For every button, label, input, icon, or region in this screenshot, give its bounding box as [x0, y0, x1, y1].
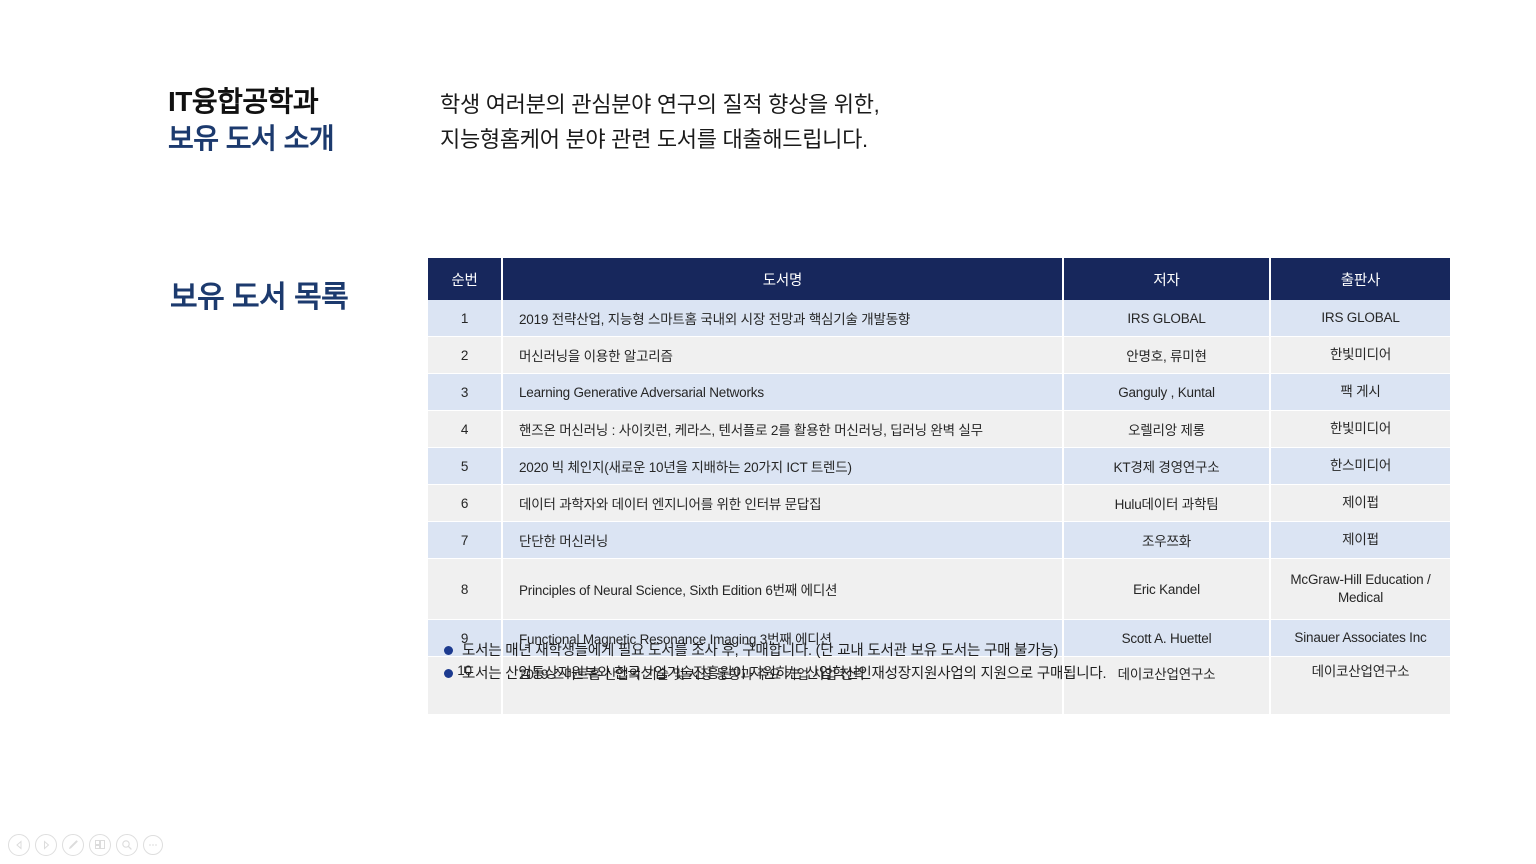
- bullet-icon: [444, 669, 453, 678]
- cell-publisher: McGraw-Hill Education / Medical: [1270, 559, 1450, 620]
- page-subtitle-line2: 지능형홈케어 분야 관련 도서를 대출해드립니다.: [440, 123, 1140, 158]
- page-title: IT융합공학과 보유 도서 소개: [168, 84, 418, 158]
- cell-author: 조우쯔화: [1063, 522, 1270, 559]
- magnifier-icon: [121, 839, 133, 851]
- cell-author: KT경제 경영연구소: [1063, 448, 1270, 485]
- section-heading: 보유 도서 목록: [170, 272, 348, 316]
- column-header-publisher: 출판사: [1270, 258, 1450, 300]
- more-options-button[interactable]: [143, 835, 163, 855]
- table-header-row: 순번 도서명 저자 출판사: [428, 258, 1450, 300]
- cell-publisher: 제이펍: [1270, 485, 1450, 522]
- cell-publisher: 한스미디어: [1270, 448, 1450, 485]
- cell-publisher: 한빛미디어: [1270, 337, 1450, 374]
- cell-title: Principles of Neural Science, Sixth Edit…: [502, 559, 1063, 620]
- cell-title: Learning Generative Adversarial Networks: [502, 374, 1063, 411]
- cell-title: 2020 빅 체인지(새로운 10년을 지배하는 20가지 ICT 트렌드): [502, 448, 1063, 485]
- zoom-button[interactable]: [116, 834, 138, 856]
- next-slide-button[interactable]: [35, 834, 57, 856]
- cell-title: 머신러닝을 이용한 알고리즘: [502, 337, 1063, 374]
- ellipsis-icon: [147, 839, 159, 851]
- cell-no: 8: [428, 559, 502, 620]
- viewer-toolbar: [8, 834, 163, 856]
- cell-author: 안명호, 류미현: [1063, 337, 1270, 374]
- cell-publisher: 팩 게시: [1270, 374, 1450, 411]
- cell-publisher: 한빛미디어: [1270, 411, 1450, 448]
- cell-no: 4: [428, 411, 502, 448]
- cell-no: 2: [428, 337, 502, 374]
- cell-no: 5: [428, 448, 502, 485]
- annotate-button[interactable]: [62, 834, 84, 856]
- footnote-text: 도서는 산업통상자원부와 한국산업기술진흥원이 지원하는 산업혁신인재성장지원사…: [462, 663, 1106, 686]
- page-title-line1: IT융합공학과: [168, 84, 418, 121]
- cell-no: 7: [428, 522, 502, 559]
- cell-no: 3: [428, 374, 502, 411]
- column-header-author: 저자: [1063, 258, 1270, 300]
- table-row: 2 머신러닝을 이용한 알고리즘 안명호, 류미현 한빛미디어: [428, 337, 1450, 374]
- footnote-text: 도서는 매년 재학생들에게 필요 도서를 조사 후, 구매합니다. (단 교내 …: [462, 640, 1058, 663]
- page-subtitle: 학생 여러분의 관심분야 연구의 질적 향상을 위한, 지능형홈케어 분야 관련…: [440, 88, 1140, 158]
- cell-author: Ganguly , Kuntal: [1063, 374, 1270, 411]
- bullet-icon: [444, 646, 453, 655]
- table-row: 4 핸즈온 머신러닝 : 사이킷런, 케라스, 텐서플로 2를 활용한 머신러닝…: [428, 411, 1450, 448]
- column-header-no: 순번: [428, 258, 502, 300]
- cell-author: 오렐리앙 제롱: [1063, 411, 1270, 448]
- table-row: 7 단단한 머신러닝 조우쯔화 제이펍: [428, 522, 1450, 559]
- triangle-left-icon: [14, 840, 24, 850]
- cell-title: 핸즈온 머신러닝 : 사이킷런, 케라스, 텐서플로 2를 활용한 머신러닝, …: [502, 411, 1063, 448]
- grid-icon: [94, 839, 106, 851]
- table-row: 6 데이터 과학자와 데이터 엔지니어를 위한 인터뷰 문답집 Hulu데이터 …: [428, 485, 1450, 522]
- footnote-item: 도서는 산업통상자원부와 한국산업기술진흥원이 지원하는 산업혁신인재성장지원사…: [444, 663, 1444, 686]
- slide-canvas: IT융합공학과 보유 도서 소개 학생 여러분의 관심분야 연구의 질적 향상을…: [0, 0, 1536, 864]
- table-row: 3 Learning Generative Adversarial Networ…: [428, 374, 1450, 411]
- table-row: 1 2019 전략산업, 지능형 스마트홈 국내외 시장 전망과 핵심기술 개발…: [428, 300, 1450, 337]
- triangle-right-icon: [41, 840, 51, 850]
- slide-overview-button[interactable]: [89, 834, 111, 856]
- cell-publisher: IRS GLOBAL: [1270, 300, 1450, 337]
- footnotes: 도서는 매년 재학생들에게 필요 도서를 조사 후, 구매합니다. (단 교내 …: [444, 640, 1444, 687]
- pen-icon: [67, 839, 79, 851]
- cell-no: 1: [428, 300, 502, 337]
- page-title-line2: 보유 도서 소개: [168, 121, 418, 158]
- cell-no: 6: [428, 485, 502, 522]
- cell-author: Eric Kandel: [1063, 559, 1270, 620]
- cell-title: 데이터 과학자와 데이터 엔지니어를 위한 인터뷰 문답집: [502, 485, 1063, 522]
- cell-title: 2019 전략산업, 지능형 스마트홈 국내외 시장 전망과 핵심기술 개발동향: [502, 300, 1063, 337]
- page-subtitle-line1: 학생 여러분의 관심분야 연구의 질적 향상을 위한,: [440, 88, 1140, 123]
- table-row: 5 2020 빅 체인지(새로운 10년을 지배하는 20가지 ICT 트렌드)…: [428, 448, 1450, 485]
- cell-author: IRS GLOBAL: [1063, 300, 1270, 337]
- previous-slide-button[interactable]: [8, 834, 30, 856]
- cell-publisher: 제이펍: [1270, 522, 1450, 559]
- cell-title: 단단한 머신러닝: [502, 522, 1063, 559]
- cell-author: Hulu데이터 과학팀: [1063, 485, 1270, 522]
- table-row: 8 Principles of Neural Science, Sixth Ed…: [428, 559, 1450, 620]
- column-header-title: 도서명: [502, 258, 1063, 300]
- footnote-item: 도서는 매년 재학생들에게 필요 도서를 조사 후, 구매합니다. (단 교내 …: [444, 640, 1444, 663]
